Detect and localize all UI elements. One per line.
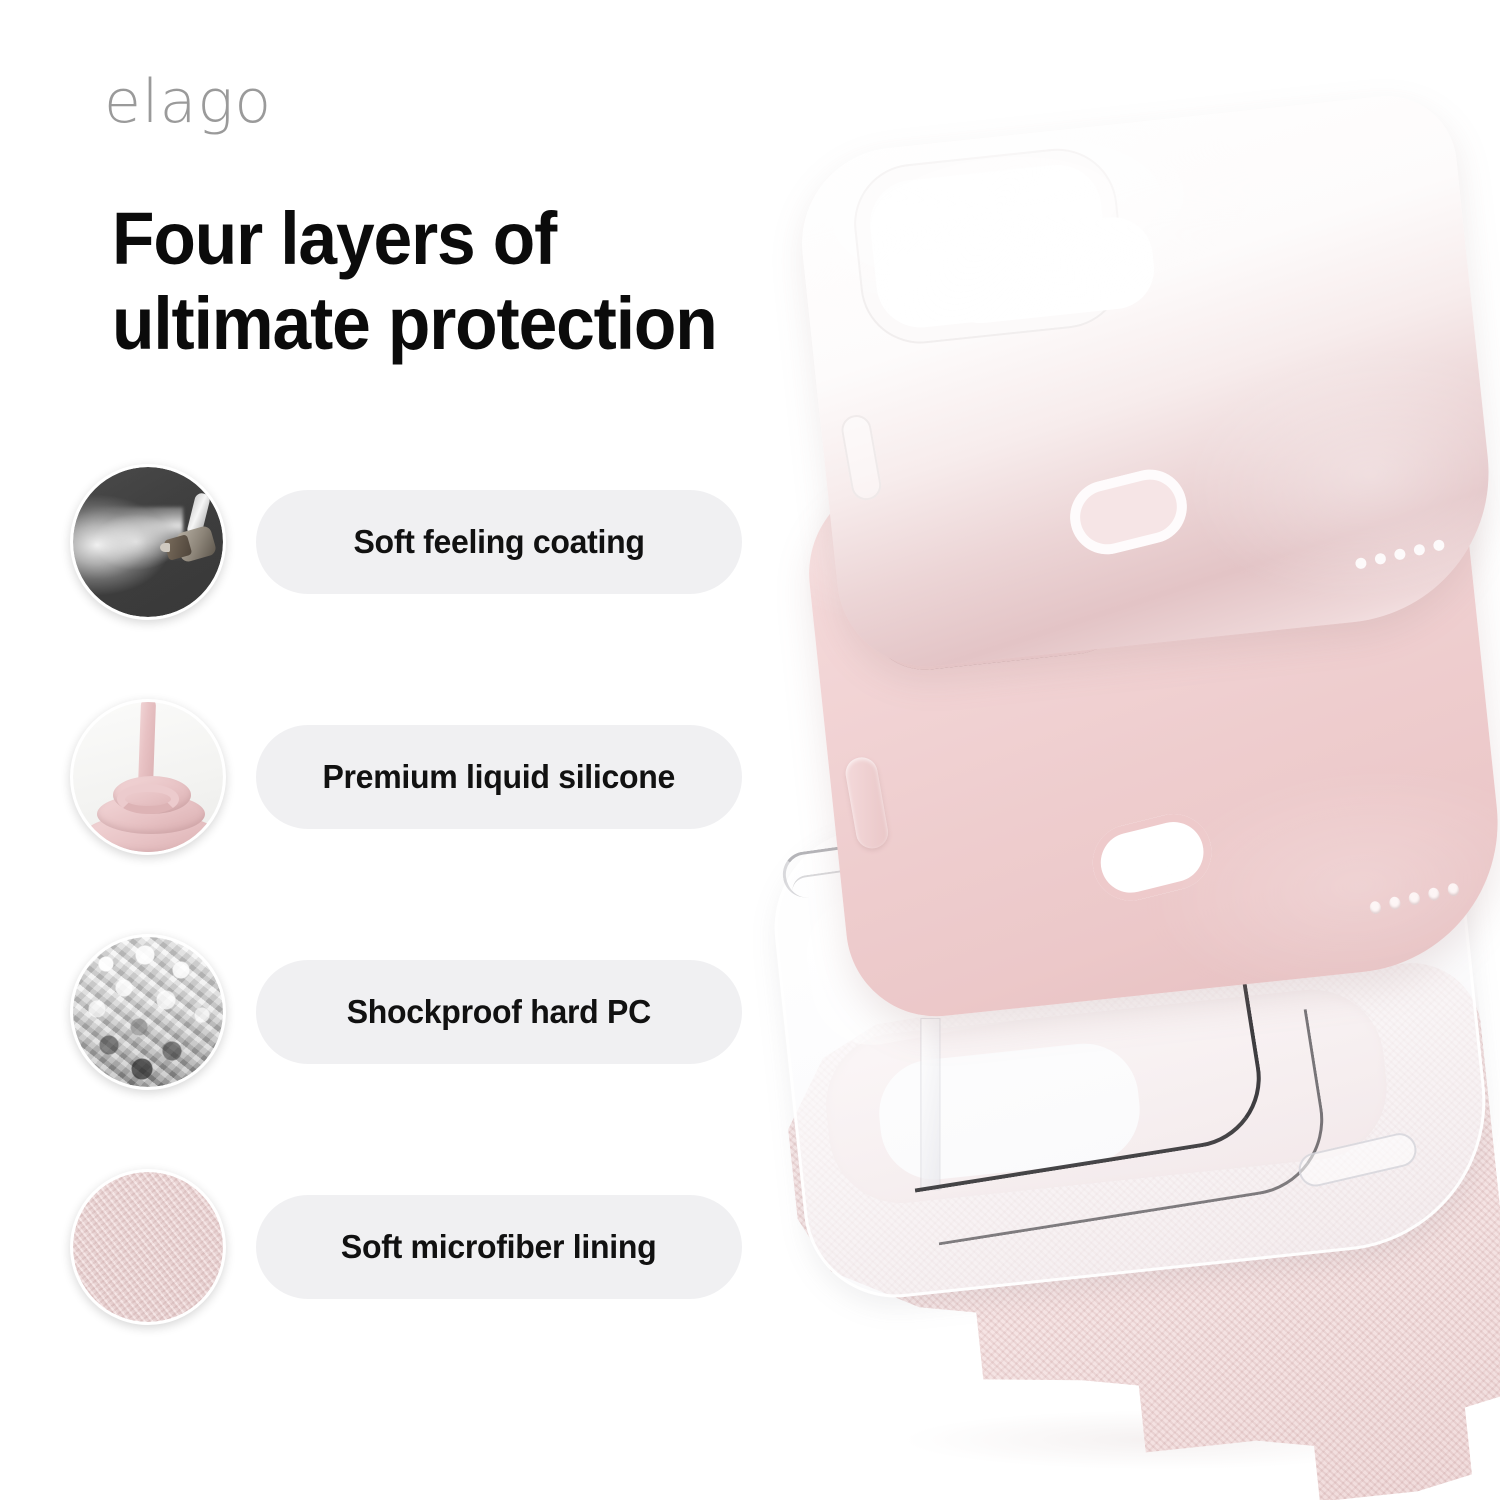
feature-row: Soft feeling coating	[70, 462, 770, 622]
feature-row: Soft microfiber lining	[70, 1167, 770, 1327]
feature-pill: Soft feeling coating	[256, 490, 742, 594]
feature-label: Soft feeling coating	[353, 523, 644, 561]
feature-row: Shockproof hard PC	[70, 932, 770, 1092]
pc-pellets-icon	[70, 934, 226, 1090]
feature-label: Shockproof hard PC	[347, 993, 651, 1031]
product-feature-graphic: elago Four layers of ultimate protection	[0, 0, 1500, 1500]
feature-pill: Shockproof hard PC	[256, 960, 742, 1064]
spray-coating-icon	[70, 464, 226, 620]
feature-label: Premium liquid silicone	[323, 758, 676, 796]
feature-label: Soft microfiber lining	[341, 1228, 656, 1266]
feature-list: Soft feeling coating Premium liquid sili…	[0, 0, 800, 1500]
feature-pill: Soft microfiber lining	[256, 1195, 742, 1299]
product-exploded-view	[780, 110, 1500, 1500]
microfiber-texture-icon	[70, 1169, 226, 1325]
liquid-silicone-icon	[70, 699, 226, 855]
feature-row: Premium liquid silicone	[70, 697, 770, 857]
product-layer-soft-coating	[793, 85, 1500, 715]
feature-pill: Premium liquid silicone	[256, 725, 742, 829]
